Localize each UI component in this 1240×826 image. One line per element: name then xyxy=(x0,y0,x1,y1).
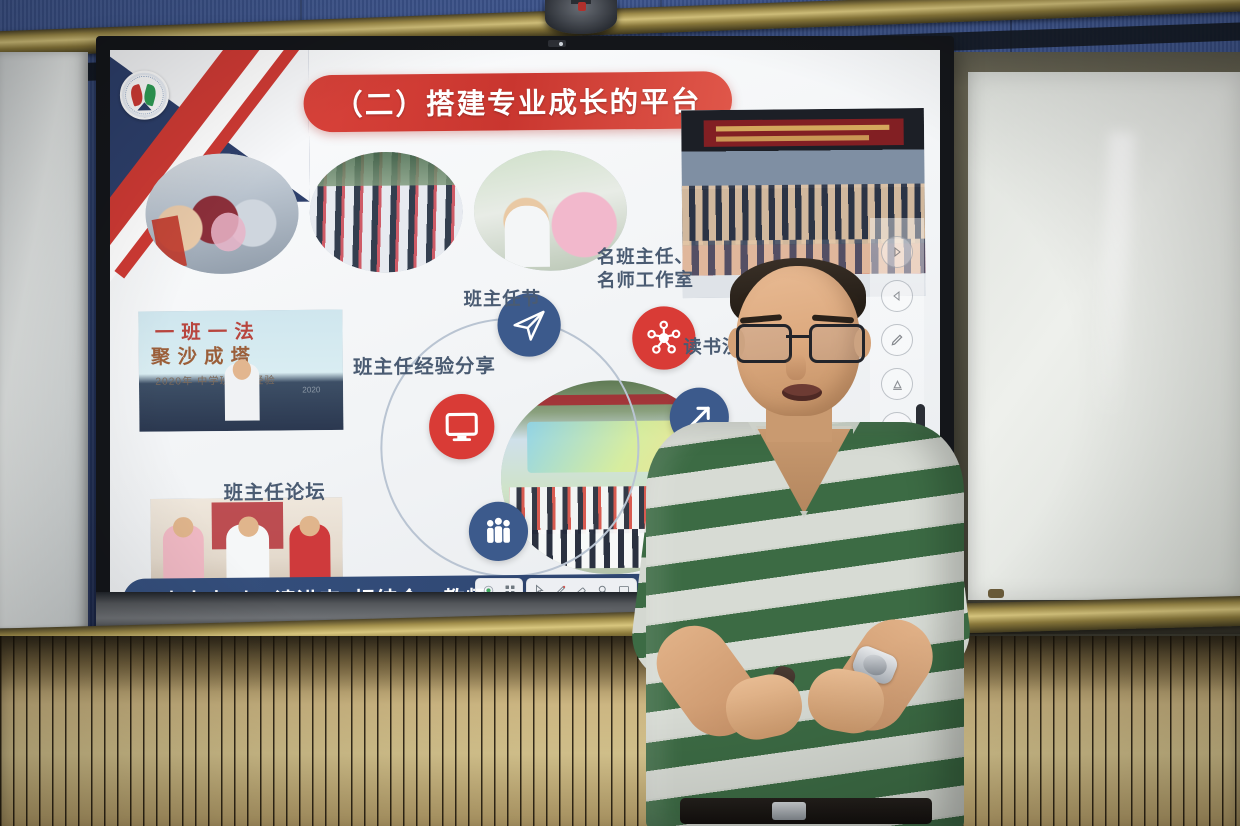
toolbar-group-left[interactable] xyxy=(475,578,523,593)
calligraphy-year: 2020 xyxy=(302,385,320,394)
apps-grid-icon[interactable] xyxy=(500,581,519,593)
glasses-icon xyxy=(736,324,862,358)
left-wall-panel xyxy=(0,52,88,642)
calligraphy-lecture-photo: 一班一法 聚沙成塔 2020年 中学班主任经验 2020 xyxy=(138,309,343,431)
slide-title: （二）搭建专业成长的平台 xyxy=(334,80,702,124)
right-whiteboard[interactable] xyxy=(952,52,1240,642)
label-experience-sharing: 班主任经验分享 xyxy=(353,351,496,380)
class-group-photo xyxy=(309,151,463,273)
bottom-banner-text: “走出去”与“请进来”相结合，教师 xyxy=(149,582,488,592)
home-icon[interactable] xyxy=(479,581,498,593)
people-group-icon[interactable] xyxy=(469,502,529,562)
label-teacher-festival: 班主任节 xyxy=(463,284,541,311)
label-forum: 班主任论坛 xyxy=(224,477,326,506)
eraser-icon[interactable] xyxy=(572,581,591,593)
screen-icon[interactable] xyxy=(614,581,633,593)
speaker-indicator-light xyxy=(578,2,586,11)
whiteboard-marker[interactable] xyxy=(988,589,1004,598)
monitor-icon[interactable] xyxy=(429,394,495,460)
presenter-belt xyxy=(680,798,932,824)
award-ceremony-photo xyxy=(145,153,299,275)
school-emblem xyxy=(120,70,169,119)
screenshot-root: （二）搭建专业成长的平台 xyxy=(0,0,1240,826)
presenter xyxy=(640,250,970,826)
slide-title-banner: （二）搭建专业成长的平台 xyxy=(303,71,732,132)
magnifier-icon[interactable] xyxy=(593,581,612,593)
pen-icon[interactable] xyxy=(551,581,570,593)
toolbar-group-tools[interactable] xyxy=(526,578,637,593)
camera-icon xyxy=(548,40,566,47)
cursor-select-icon[interactable] xyxy=(530,581,549,593)
presenter-mouth xyxy=(782,384,822,401)
